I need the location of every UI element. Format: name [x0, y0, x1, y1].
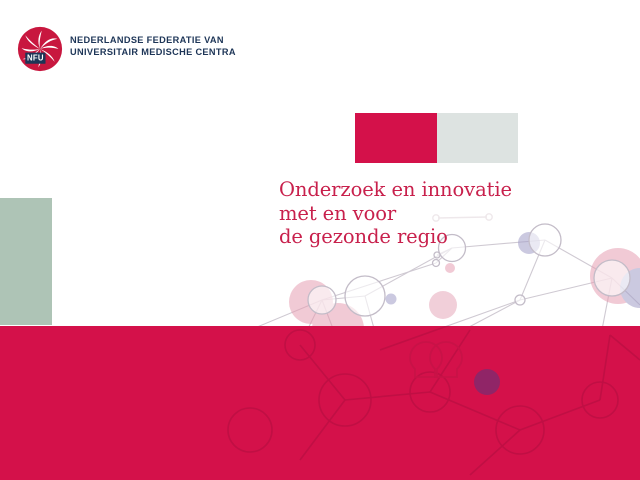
- logo-wordmark-line1: NEDERLANDSE FEDERATIE VAN: [70, 34, 236, 46]
- logo-wordmark-line2: UNIVERSITAIR MEDISCHE CENTRA: [70, 46, 236, 58]
- green-swatch: [0, 198, 52, 325]
- svg-text:NFU: NFU: [27, 54, 44, 63]
- red-swatch: [355, 113, 437, 163]
- logo-wordmark: NEDERLANDSE FEDERATIE VAN UNIVERSITAIR M…: [70, 34, 236, 58]
- footer-network-graphic: [0, 326, 640, 480]
- nfu-logo: NFU NEDERLANDSE FEDERATIE VAN UNIVERSITA…: [17, 26, 247, 72]
- grey-swatch: [437, 113, 518, 163]
- page-title-line1: Onderzoek en innovatie: [279, 178, 512, 202]
- page-title-line2: met en voor: [279, 202, 512, 226]
- page-title: Onderzoek en innovatie met en voor de ge…: [279, 178, 512, 249]
- page-title-line3: de gezonde regio: [279, 225, 512, 249]
- slide-canvas: NFU NEDERLANDSE FEDERATIE VAN UNIVERSITA…: [0, 0, 640, 480]
- footer-band: think globally, act locally: [0, 326, 640, 480]
- nfu-pinwheel-logo-icon: NFU: [17, 26, 63, 72]
